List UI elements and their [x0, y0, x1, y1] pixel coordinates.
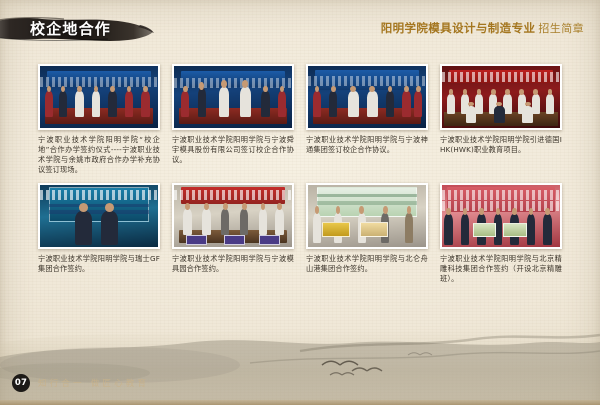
header-subtitle: 阳明学院模具设计与制造专业招生简章: [381, 19, 584, 37]
photo-caption: 宁波职业技术学院阳明学院“校企地”合作办学签约仪式----宁波职业技术学院与余姚…: [38, 135, 160, 175]
header-program-name: 阳明学院模具设计与制造专业: [381, 21, 536, 35]
grid-cell: 宁波职业技术学院阳明学院与宁波模具园合作签约。: [172, 183, 294, 284]
page-footer: 07 知行合一 做匠心教育: [0, 371, 600, 405]
grid-cell: 宁波职业技术学院阳明学院引进德国IHK(HWK)职业教育项目。: [440, 64, 562, 175]
photo-caption: 宁波职业技术学院阳明学院与宁波舜宇模具股份有限公司签订校企合作协议。: [172, 135, 294, 165]
photo-grid: 宁波职业技术学院阳明学院“校企地”合作办学签约仪式----宁波职业技术学院与余姚…: [38, 64, 562, 284]
section-title: 校企地合作: [30, 19, 111, 39]
header-doc-type: 招生简章: [538, 22, 584, 35]
photo-caption: 宁波职业技术学院阳明学院与北京精雕科技集团合作签约（开设北京精雕班）。: [440, 254, 562, 284]
bird-icon: [322, 361, 358, 365]
photo-german-ihk-hwk-project[interactable]: [440, 64, 562, 130]
grid-cell: 宁波职业技术学院阳明学院与宁波神通集团签订校企合作协议。: [306, 64, 428, 175]
photo-caption: 宁波职业技术学院阳明学院与北仑舟山港集团合作签约。: [306, 254, 428, 274]
grid-cell: 宁波职业技术学院阳明学院与宁波舜宇模具股份有限公司签订校企合作协议。: [172, 64, 294, 175]
grid-cell: 宁波职业技术学院阳明学院与北京精雕科技集团合作签约（开设北京精雕班）。: [440, 183, 562, 284]
page-header: 校企地合作 阳明学院模具设计与制造专业招生简章: [0, 0, 600, 52]
photo-caption: 宁波职业技术学院阳明学院与宁波模具园合作签约。: [172, 254, 294, 274]
photo-signing-swiss-gf-group[interactable]: [38, 183, 160, 249]
bird-icon: [408, 353, 432, 355]
photo-caption: 宁波职业技术学院阳明学院与宁波神通集团签订校企合作协议。: [306, 135, 428, 155]
grid-cell: 宁波职业技术学院阳明学院与北仑舟山港集团合作签约。: [306, 183, 428, 284]
footer-divider: [0, 400, 600, 405]
photo-signing-beilun-zhoushan-port[interactable]: [306, 183, 428, 249]
photo-caption: 宁波职业技术学院阳明学院引进德国IHK(HWK)职业教育项目。: [440, 135, 562, 155]
photo-caption: 宁波职业技术学院阳明学院与瑞士GF集团合作签约。: [38, 254, 160, 274]
photo-signing-beijing-jingdiao[interactable]: [440, 183, 562, 249]
photo-signing-ceremony-yuyao[interactable]: [38, 64, 160, 130]
photo-signing-shentong-group[interactable]: [306, 64, 428, 130]
brochure-page: 校企地合作 阳明学院模具设计与制造专业招生简章: [0, 0, 600, 405]
photo-signing-ningbo-mould-park[interactable]: [172, 183, 294, 249]
grid-cell: 宁波职业技术学院阳明学院与瑞士GF集团合作签约。: [38, 183, 160, 284]
photo-signing-sunny-optical-mould[interactable]: [172, 64, 294, 130]
grid-cell: 宁波职业技术学院阳明学院“校企地”合作办学签约仪式----宁波职业技术学院与余姚…: [38, 64, 160, 175]
footer-slogan: 知行合一 做匠心教育: [38, 377, 149, 389]
page-number-badge: 07: [12, 374, 30, 392]
